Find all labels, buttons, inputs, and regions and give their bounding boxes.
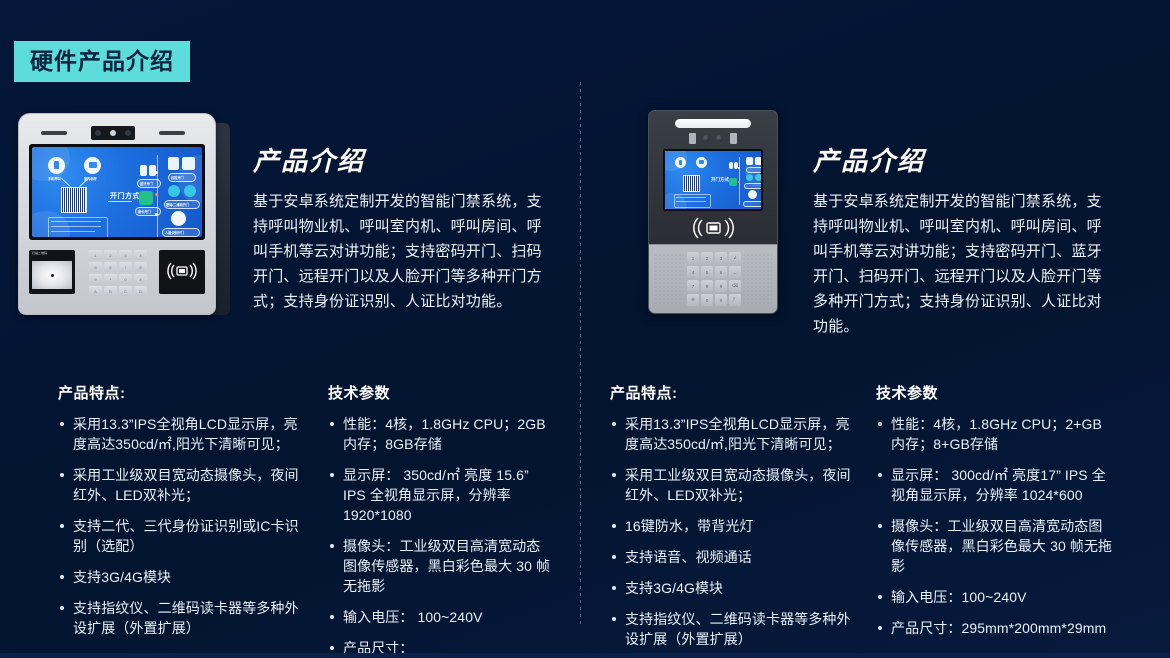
- list-item: 摄像头：工业级双目高清宽动态图像传感器，黑白彩色最大 30 帧无拖影: [876, 516, 1116, 576]
- ir-led-left-icon: [689, 133, 696, 144]
- device-lower-panel: 扫描二维码 1 2 3 4 5 6 7 8 9 * 0 # A: [27, 246, 207, 302]
- camera-lens-icon: [95, 130, 101, 136]
- key[interactable]: 0: [701, 294, 713, 306]
- features-list-left: 采用13.3”IPS全视角LCD显示屏，亮度高达350cd/㎡,阳光下清晰可见；…: [58, 414, 308, 638]
- list-item: 输入电压：100~240V: [876, 587, 1116, 607]
- key[interactable]: *: [104, 274, 117, 284]
- key[interactable]: 0: [119, 274, 132, 284]
- camera-lens-2-icon: [716, 135, 723, 142]
- features-heading-left: 产品特点:: [58, 382, 308, 403]
- specs-list-left: 性能：4核，1.8GHz CPU；2GB内存；8GB存储 显示屏： 350cd/…: [328, 414, 553, 658]
- camera-lens-icon: [703, 135, 710, 142]
- specs-block-left: 技术参数 性能：4核，1.8GHz CPU；2GB内存；8GB存储 显示屏： 3…: [328, 382, 553, 658]
- ir-sensor-icon: [110, 130, 116, 136]
- list-item: 支持二代、三代身份证识别或IC卡识别（选配）: [58, 516, 308, 556]
- nfc-wave-icon: [165, 262, 199, 282]
- dual-camera-module: [91, 126, 135, 140]
- section-title-badge: 硬件产品介绍: [14, 41, 190, 82]
- key[interactable]: 2: [104, 250, 117, 260]
- list-item: 支持指纹仪、二维码读卡器等多种外设扩展（外置扩展）: [58, 598, 308, 638]
- key[interactable]: 4: [134, 250, 147, 260]
- device-body: 开门方式: [648, 110, 778, 314]
- key[interactable]: #: [134, 274, 147, 284]
- key[interactable]: 8: [134, 262, 147, 272]
- keypad-left[interactable]: 1 2 3 4 5 6 7 8 9 * 0 # A B C D: [89, 250, 147, 296]
- list-item: 采用13.3”IPS全视角LCD显示屏，亮度高达350cd/㎡,阳光下清晰可见；: [58, 414, 308, 454]
- list-item: 采用13.3”IPS全视角LCD显示屏，亮度高达350cd/㎡,阳光下清晰可见；: [610, 414, 860, 454]
- key[interactable]: D: [134, 286, 147, 296]
- nfc-card-reader-left[interactable]: [159, 250, 205, 294]
- list-item: 采用工业级双目宽动态摄像头，夜间红外、LED双补光；: [610, 465, 860, 505]
- specs-heading-right: 技术参数: [876, 382, 1116, 403]
- column-divider: [580, 82, 581, 627]
- intro-heading-left: 产品介绍: [253, 148, 543, 174]
- dual-camera-module: [689, 133, 737, 144]
- list-item: 支持语音、视频通话: [610, 547, 860, 567]
- key[interactable]: C: [119, 286, 132, 296]
- key[interactable]: 5: [701, 266, 713, 278]
- key[interactable]: 4: [687, 266, 699, 278]
- key[interactable]: 2: [701, 252, 713, 264]
- qr-scanner-label: 扫描二维码: [32, 251, 47, 255]
- device-screen-left: 手机呼叫 室内机呼 开门方式: [29, 144, 205, 240]
- features-list-right: 采用13.3”IPS全视角LCD显示屏，亮度高达350cd/㎡,阳光下清晰可见；…: [610, 414, 860, 649]
- keypad-right[interactable]: 1 2 3 ↲ 4 5 6 ← 7 8 9 ⌫ ※ 0 # ？: [687, 252, 741, 306]
- nfc-card-reader-right[interactable]: [649, 215, 777, 241]
- qr-scanner-lens-icon: [32, 261, 72, 289]
- intro-heading-right: 产品介绍: [813, 148, 1103, 174]
- key[interactable]: 7: [119, 262, 132, 272]
- device-keypad-panel: 1 2 3 ↲ 4 5 6 ← 7 8 9 ⌫ ※ 0 # ？: [649, 244, 777, 313]
- key[interactable]: 3: [119, 250, 132, 260]
- camera-lens-2-icon: [125, 130, 131, 136]
- ir-led-left-icon: [41, 131, 67, 135]
- list-item: 支持指纹仪、二维码读卡器等多种外设扩展（外置扩展）: [610, 609, 860, 649]
- list-item: 支持3G/4G模块: [610, 578, 860, 598]
- key[interactable]: #: [715, 294, 727, 306]
- list-item: 支持3G/4G模块: [58, 567, 308, 587]
- list-item: 16键防水，带背光灯: [610, 516, 860, 536]
- key[interactable]: A: [89, 286, 102, 296]
- key[interactable]: 9: [715, 280, 727, 292]
- features-heading-right: 产品特点:: [610, 382, 860, 403]
- specs-block-right: 技术参数 性能：4核，1.8GHz CPU；2+GB内存；8+GB存储 显示屏：…: [876, 382, 1116, 649]
- key[interactable]: ⌫: [729, 280, 741, 292]
- nfc-wave-icon: [687, 217, 739, 239]
- intro-block-right: 产品介绍 基于安卓系统定制开发的智能门禁系统，支持呼叫物业机、呼叫室内机、呼叫房…: [813, 148, 1103, 339]
- key[interactable]: ※: [687, 294, 699, 306]
- key[interactable]: 5: [89, 262, 102, 272]
- list-item: 输入电压： 100~240V: [328, 607, 553, 627]
- features-block-right: 产品特点: 采用13.3”IPS全视角LCD显示屏，亮度高达350cd/㎡,阳光…: [610, 382, 860, 658]
- specs-heading-left: 技术参数: [328, 382, 553, 403]
- list-item: 显示屏： 300cd/㎡ 亮度17” IPS 全视角显示屏，分辨率 1024*6…: [876, 465, 1116, 505]
- speaker-grill-left-icon: [654, 253, 684, 305]
- key[interactable]: 6: [715, 266, 727, 278]
- key[interactable]: ？: [729, 294, 741, 306]
- list-item: 显示屏： 350cd/㎡ 亮度 15.6” IPS 全视角显示屏，分辨率1920…: [328, 465, 553, 525]
- speaker-grill-right-icon: [742, 253, 772, 305]
- key[interactable]: 1: [687, 252, 699, 264]
- key[interactable]: B: [104, 286, 117, 296]
- list-item: 产品尺寸：295mm*200mm*29mm: [876, 618, 1116, 638]
- white-light-bar-icon: [675, 119, 751, 128]
- product-image-right: 开门方式: [648, 110, 778, 315]
- key[interactable]: 6: [104, 262, 117, 272]
- specs-list-right: 性能：4核，1.8GHz CPU；2+GB内存；8+GB存储 显示屏： 300c…: [876, 414, 1116, 638]
- intro-paragraph-right: 基于安卓系统定制开发的智能门禁系统，支持呼叫物业机、呼叫室内机、呼叫房间、呼叫手…: [813, 189, 1103, 339]
- ir-led-right-icon: [730, 133, 737, 144]
- key[interactable]: 3: [715, 252, 727, 264]
- list-item: 采用工业级双目宽动态摄像头，夜间红外、LED双补光；: [58, 465, 308, 505]
- device-body: 手机呼叫 室内机呼 开门方式: [18, 113, 216, 315]
- screen-center-label: 开门方式: [110, 191, 140, 201]
- key[interactable]: 7: [687, 280, 699, 292]
- key[interactable]: ↲: [729, 252, 741, 264]
- key[interactable]: 9: [89, 274, 102, 284]
- key[interactable]: 8: [701, 280, 713, 292]
- device-top-bar: [33, 126, 201, 140]
- section-title-text: 硬件产品介绍: [30, 50, 174, 73]
- intro-paragraph-left: 基于安卓系统定制开发的智能门禁系统，支持呼叫物业机、呼叫室内机、呼叫房间、呼叫手…: [253, 189, 543, 314]
- product-image-left: 手机呼叫 室内机呼 开门方式: [18, 113, 230, 323]
- key[interactable]: ←: [729, 266, 741, 278]
- ir-led-right-icon: [159, 131, 185, 135]
- intro-block-left: 产品介绍 基于安卓系统定制开发的智能门禁系统，支持呼叫物业机、呼叫室内机、呼叫房…: [253, 148, 543, 314]
- list-item: 产品尺寸：395mm*362mm*45mm: [328, 638, 553, 658]
- list-item: 性能：4核，1.8GHz CPU；2GB内存；8GB存储: [328, 414, 553, 454]
- features-block-left: 产品特点: 采用13.3”IPS全视角LCD显示屏，亮度高达350cd/㎡,阳光…: [58, 382, 308, 649]
- qr-scanner-module[interactable]: 扫描二维码: [29, 250, 75, 294]
- list-item: 性能：4核，1.8GHz CPU；2+GB内存；8+GB存储: [876, 414, 1116, 454]
- key[interactable]: 1: [89, 250, 102, 260]
- slide-canvas: 硬件产品介绍: [0, 0, 1170, 658]
- device-screen-right: 开门方式: [663, 149, 763, 211]
- list-item: 摄像头：工业级双目高清宽动态图像传感器，黑白彩色最大 30 帧无拖影: [328, 536, 553, 596]
